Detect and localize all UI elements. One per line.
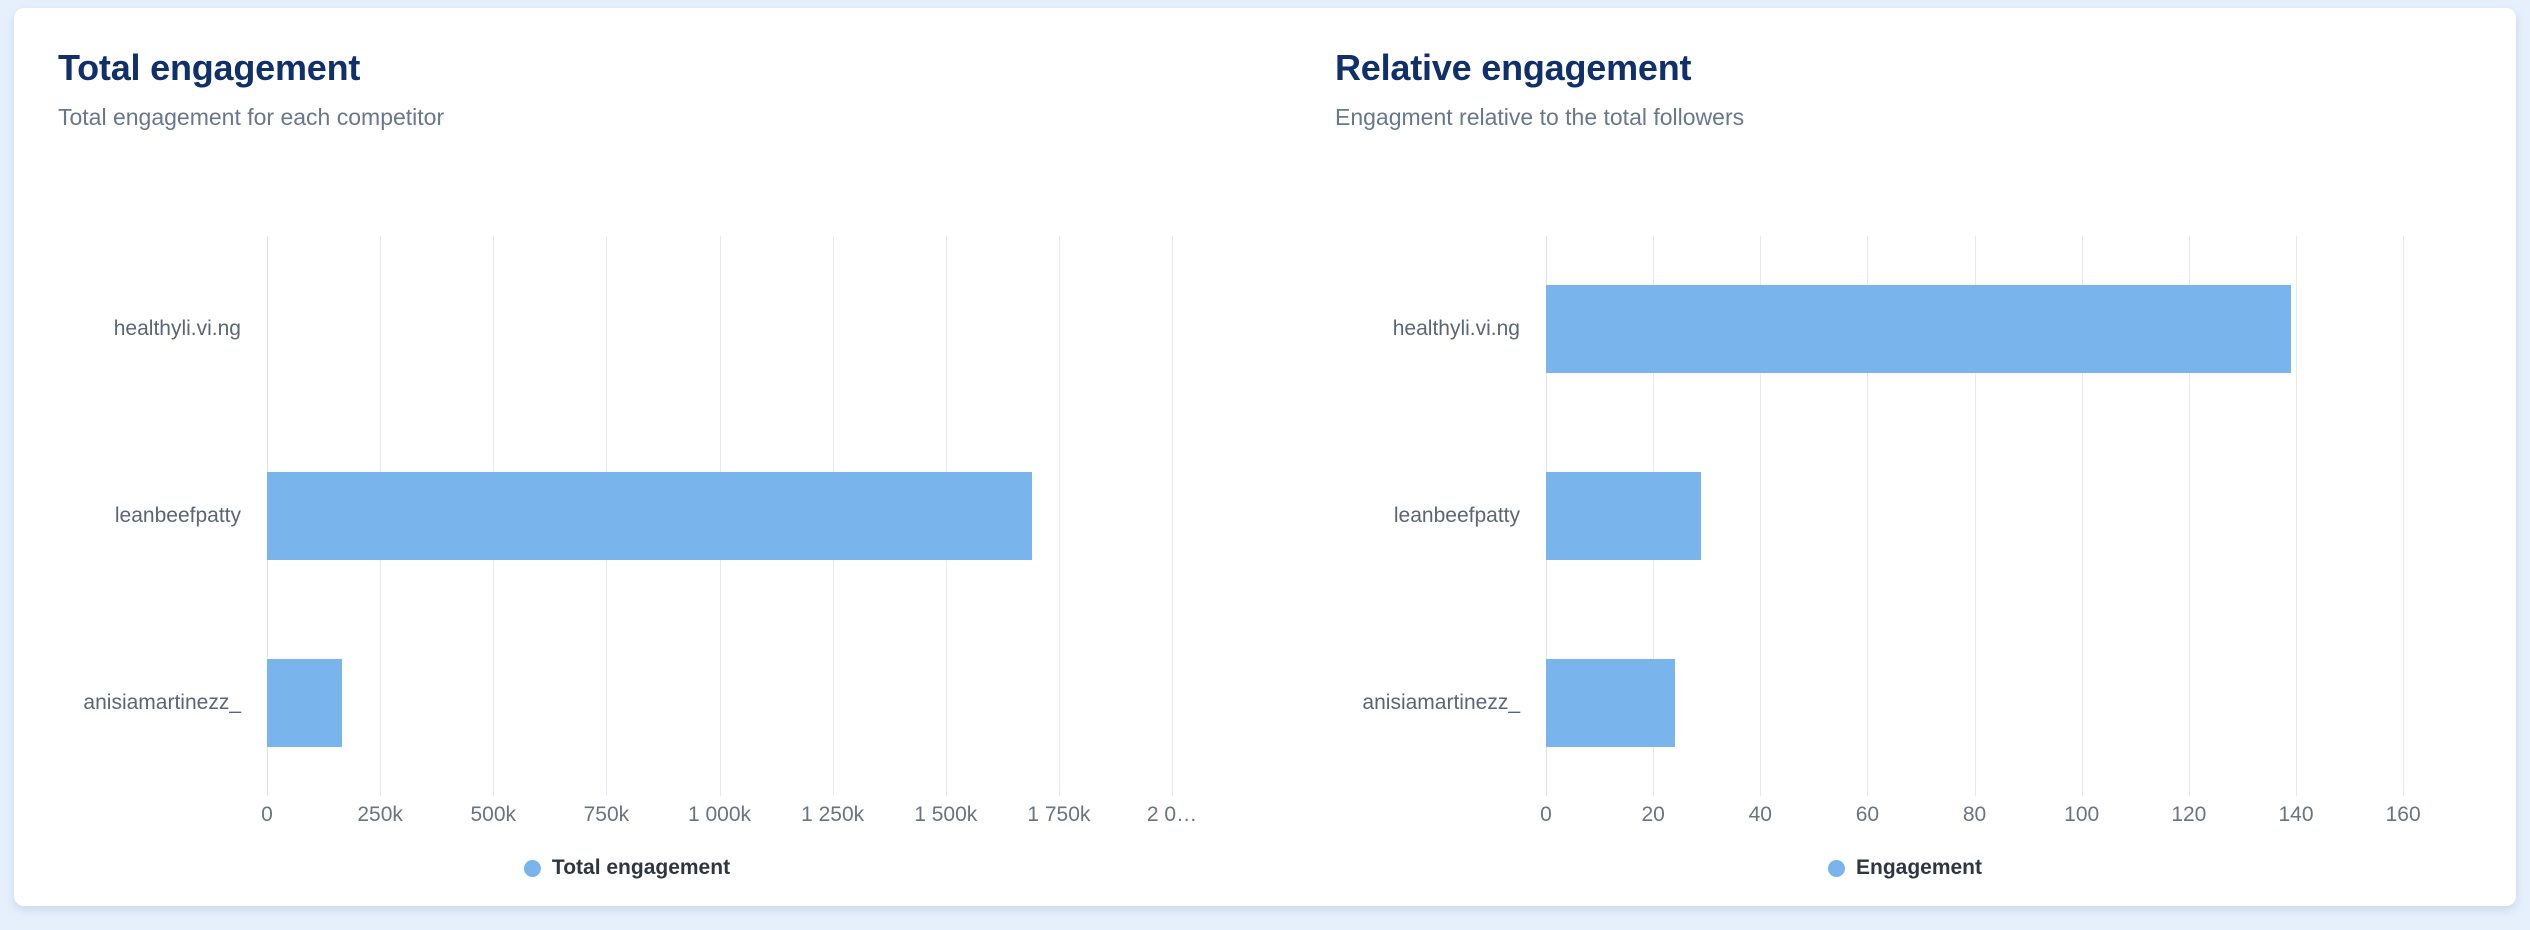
axis-tick-label: 160 xyxy=(2386,803,2421,827)
category-axis-labels: healthyli.vi.ngleanbeefpattyanisiamartin… xyxy=(1303,236,1533,796)
legend-label: Total engagement xyxy=(552,856,730,880)
chart-legend[interactable]: Total engagement xyxy=(524,856,730,880)
bar-row xyxy=(1546,423,2446,610)
bar-row xyxy=(267,423,1172,610)
category-label: anisiamartinezz_ xyxy=(83,609,241,796)
axis-tick-label: 250k xyxy=(357,803,403,827)
category-label: anisiamartinezz_ xyxy=(1362,609,1520,796)
category-label: healthyli.vi.ng xyxy=(114,236,241,423)
bar-row xyxy=(267,609,1172,796)
category-label: leanbeefpatty xyxy=(1394,423,1520,610)
bar-row xyxy=(1546,236,2446,423)
panel-relative-engagement: Relative engagement Engagment relative t… xyxy=(1265,8,2516,906)
axis-tick-label: 1 750k xyxy=(1027,803,1090,827)
page-title: Relative engagement xyxy=(1335,48,1744,88)
bar[interactable] xyxy=(1546,472,1701,560)
axis-tick-label: 0 xyxy=(1540,803,1552,827)
axis-tick-label: 140 xyxy=(2278,803,2313,827)
panel-subtitle: Total engagement for each competitor xyxy=(58,104,444,132)
axis-tick-label: 60 xyxy=(1856,803,1879,827)
category-axis-labels: healthyli.vi.ngleanbeefpattyanisiamartin… xyxy=(24,236,254,796)
dashboard-card: Total engagement Total engagement for ea… xyxy=(14,8,2516,906)
axis-tick-label: 80 xyxy=(1963,803,1986,827)
axis-tick-label: 1 250k xyxy=(801,803,864,827)
panel-total-engagement: Total engagement Total engagement for ea… xyxy=(14,8,1265,906)
circle-marker-icon xyxy=(1828,860,1845,877)
chart-plot-area xyxy=(1546,236,2446,796)
axis-tick-label: 100 xyxy=(2064,803,2099,827)
bar[interactable] xyxy=(1546,285,2291,373)
panel-header: Relative engagement Engagment relative t… xyxy=(1335,48,1744,131)
axis-tick-label: 40 xyxy=(1749,803,1772,827)
axis-tick-label: 0 xyxy=(261,803,273,827)
axis-tick-label: 750k xyxy=(584,803,630,827)
circle-marker-icon xyxy=(524,860,541,877)
legend-label: Engagement xyxy=(1856,856,1982,880)
value-axis-tick-labels: 0250k500k750k1 000k1 250k1 500k1 750k2 0… xyxy=(267,803,1172,837)
category-label: leanbeefpatty xyxy=(115,423,241,610)
axis-tick-label: 120 xyxy=(2171,803,2206,827)
axis-tick-label: 2 0… xyxy=(1147,803,1197,827)
bar[interactable] xyxy=(267,659,342,747)
bar[interactable] xyxy=(267,472,1032,560)
page-title: Total engagement xyxy=(58,48,444,88)
panel-container: Total engagement Total engagement for ea… xyxy=(14,8,2516,906)
bar-series xyxy=(267,236,1172,796)
bar-row xyxy=(1546,609,2446,796)
bar-row xyxy=(267,236,1172,423)
panel-header: Total engagement Total engagement for ea… xyxy=(58,48,444,131)
gridline xyxy=(1172,236,1173,796)
chart-legend[interactable]: Engagement xyxy=(1828,856,1982,880)
panel-subtitle: Engagment relative to the total follower… xyxy=(1335,104,1744,132)
bar-series xyxy=(1546,236,2446,796)
chart-plot-area xyxy=(267,236,1172,796)
bar[interactable] xyxy=(1546,659,1675,747)
value-axis-tick-labels: 020406080100120140160 xyxy=(1546,803,2446,837)
category-label: healthyli.vi.ng xyxy=(1393,236,1520,423)
axis-tick-label: 20 xyxy=(1641,803,1664,827)
axis-tick-label: 500k xyxy=(470,803,516,827)
axis-tick-label: 1 500k xyxy=(914,803,977,827)
axis-tick-label: 1 000k xyxy=(688,803,751,827)
